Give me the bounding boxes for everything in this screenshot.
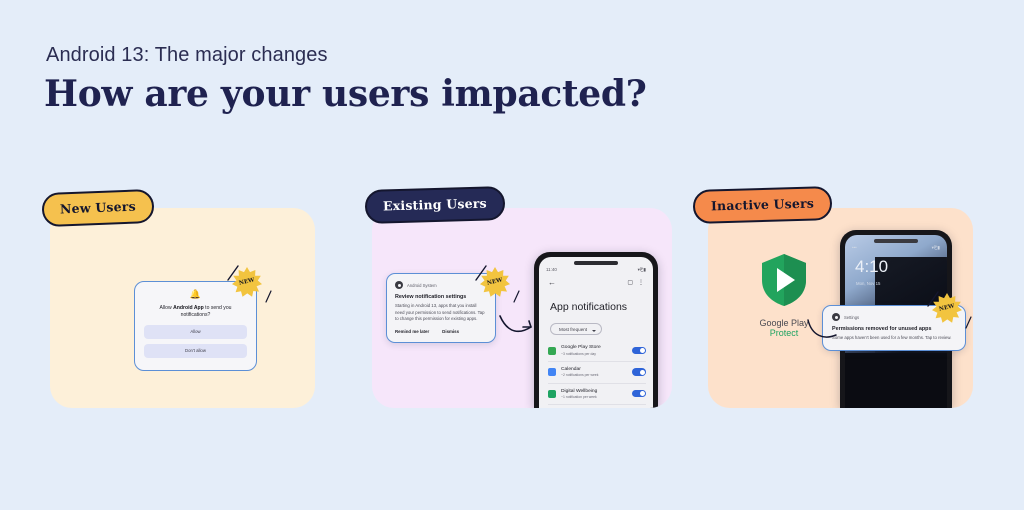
starburst-label: NEW xyxy=(939,303,956,312)
status-icons-right: ▾⎗▮ xyxy=(932,245,940,251)
notification-permission-dialog[interactable]: 🔔 Allow Android App to send you notifica… xyxy=(134,281,257,371)
back-arrow-icon[interactable]: ← xyxy=(548,278,556,287)
help-icon[interactable]: ▢ xyxy=(627,279,633,286)
app-name: Digital Wellbeing xyxy=(561,389,632,394)
starburst-label: NEW xyxy=(487,277,504,286)
status-icons-left: ••• xyxy=(852,245,857,250)
phone-mockup-existing-users: 11:40 ▾⎗▮ ← ▢ ⋮ App notifications Most f… xyxy=(534,252,658,408)
arrow-to-lock-screen xyxy=(806,318,840,344)
dismiss-button[interactable]: Dismiss xyxy=(442,329,459,334)
card-body: Starting in Android 13, apps that you in… xyxy=(395,303,487,323)
allow-button[interactable]: Allow xyxy=(144,325,247,339)
status-icons: ▾⎗▮ xyxy=(638,267,646,273)
list-item[interactable]: Digital Wellbeing ~1 notification per we… xyxy=(548,383,646,404)
app-meta: ~3 notifications per day xyxy=(561,352,632,356)
more-options-icon[interactable]: ⋮ xyxy=(638,279,644,286)
dialog-message: Allow Android App to send you notificati… xyxy=(144,305,247,320)
app-icon xyxy=(548,368,556,376)
filter-chip-most-frequent[interactable]: Most frequent xyxy=(550,323,602,335)
badge-inactive-users: Inactive Users xyxy=(693,186,833,224)
dialog-text-before: Allow xyxy=(159,305,173,311)
app-name: Calendar xyxy=(561,367,632,372)
card-title: Permissions removed for unused apps xyxy=(832,326,956,332)
badge-new-users: New Users xyxy=(41,189,154,227)
status-time: 11:40 xyxy=(546,267,557,272)
app-notification-list: Google Play Store ~3 notifications per d… xyxy=(548,340,646,408)
arrow-to-phone xyxy=(498,312,538,338)
notification-toggle[interactable] xyxy=(632,347,646,355)
slide: Android 13: The major changes How are yo… xyxy=(0,0,1024,510)
card-body: Some apps haven't been used for a few mo… xyxy=(832,335,956,342)
card-app-label: Android System xyxy=(407,283,437,288)
dialog-app-name: Android App xyxy=(173,305,204,311)
screen-title: App notifications xyxy=(550,301,627,313)
badge-existing-users: Existing Users xyxy=(365,186,506,224)
starburst-label: NEW xyxy=(239,277,256,286)
play-protect-shield-icon xyxy=(759,252,809,308)
android-system-icon xyxy=(395,281,403,289)
swoosh-line-6 xyxy=(962,314,978,332)
app-meta: ~2 notifications per week xyxy=(561,373,632,377)
bell-icon: 🔔 xyxy=(144,290,247,299)
page-title: How are your users impacted? xyxy=(44,73,647,115)
dont-allow-button[interactable]: Don't allow xyxy=(144,344,247,358)
list-item[interactable]: Calendar ~2 notifications per week xyxy=(548,362,646,383)
list-item[interactable]: Google Play Store ~3 notifications per d… xyxy=(548,340,646,361)
card-title: Review notification settings xyxy=(395,294,487,300)
app-meta: ~1 notification per week xyxy=(561,395,632,399)
card-actions: Remind me later Dismiss xyxy=(395,329,487,334)
notification-toggle[interactable] xyxy=(632,368,646,376)
card-app-label: Settings xyxy=(844,315,859,320)
app-icon xyxy=(548,390,556,398)
panel-new-users: 1:20 ▾⎗▮ Edinburgh Explore nearby 🔔 Allo… xyxy=(50,208,315,408)
status-bar: 11:40 ▾⎗▮ xyxy=(539,265,653,274)
app-name: Google Play Store xyxy=(561,345,632,350)
swoosh-line-4 xyxy=(510,288,526,306)
swoosh-line-2 xyxy=(262,288,278,306)
notification-toggle[interactable] xyxy=(632,390,646,398)
app-icon xyxy=(548,347,556,355)
lock-screen-clock: 4:10 xyxy=(855,257,888,277)
list-item[interactable]: Google Play services ~1 notification per… xyxy=(548,405,646,408)
status-bar: ••• ▾⎗▮ xyxy=(845,243,947,252)
remind-me-later-button[interactable]: Remind me later xyxy=(395,329,429,334)
lock-screen-date: Mon, Nov 15 xyxy=(856,281,880,286)
app-nav-bar: ← ▢ ⋮ xyxy=(539,275,653,289)
eyebrow-text: Android 13: The major changes xyxy=(46,44,328,67)
phone-screen: 11:40 ▾⎗▮ ← ▢ ⋮ App notifications Most f… xyxy=(539,257,653,408)
